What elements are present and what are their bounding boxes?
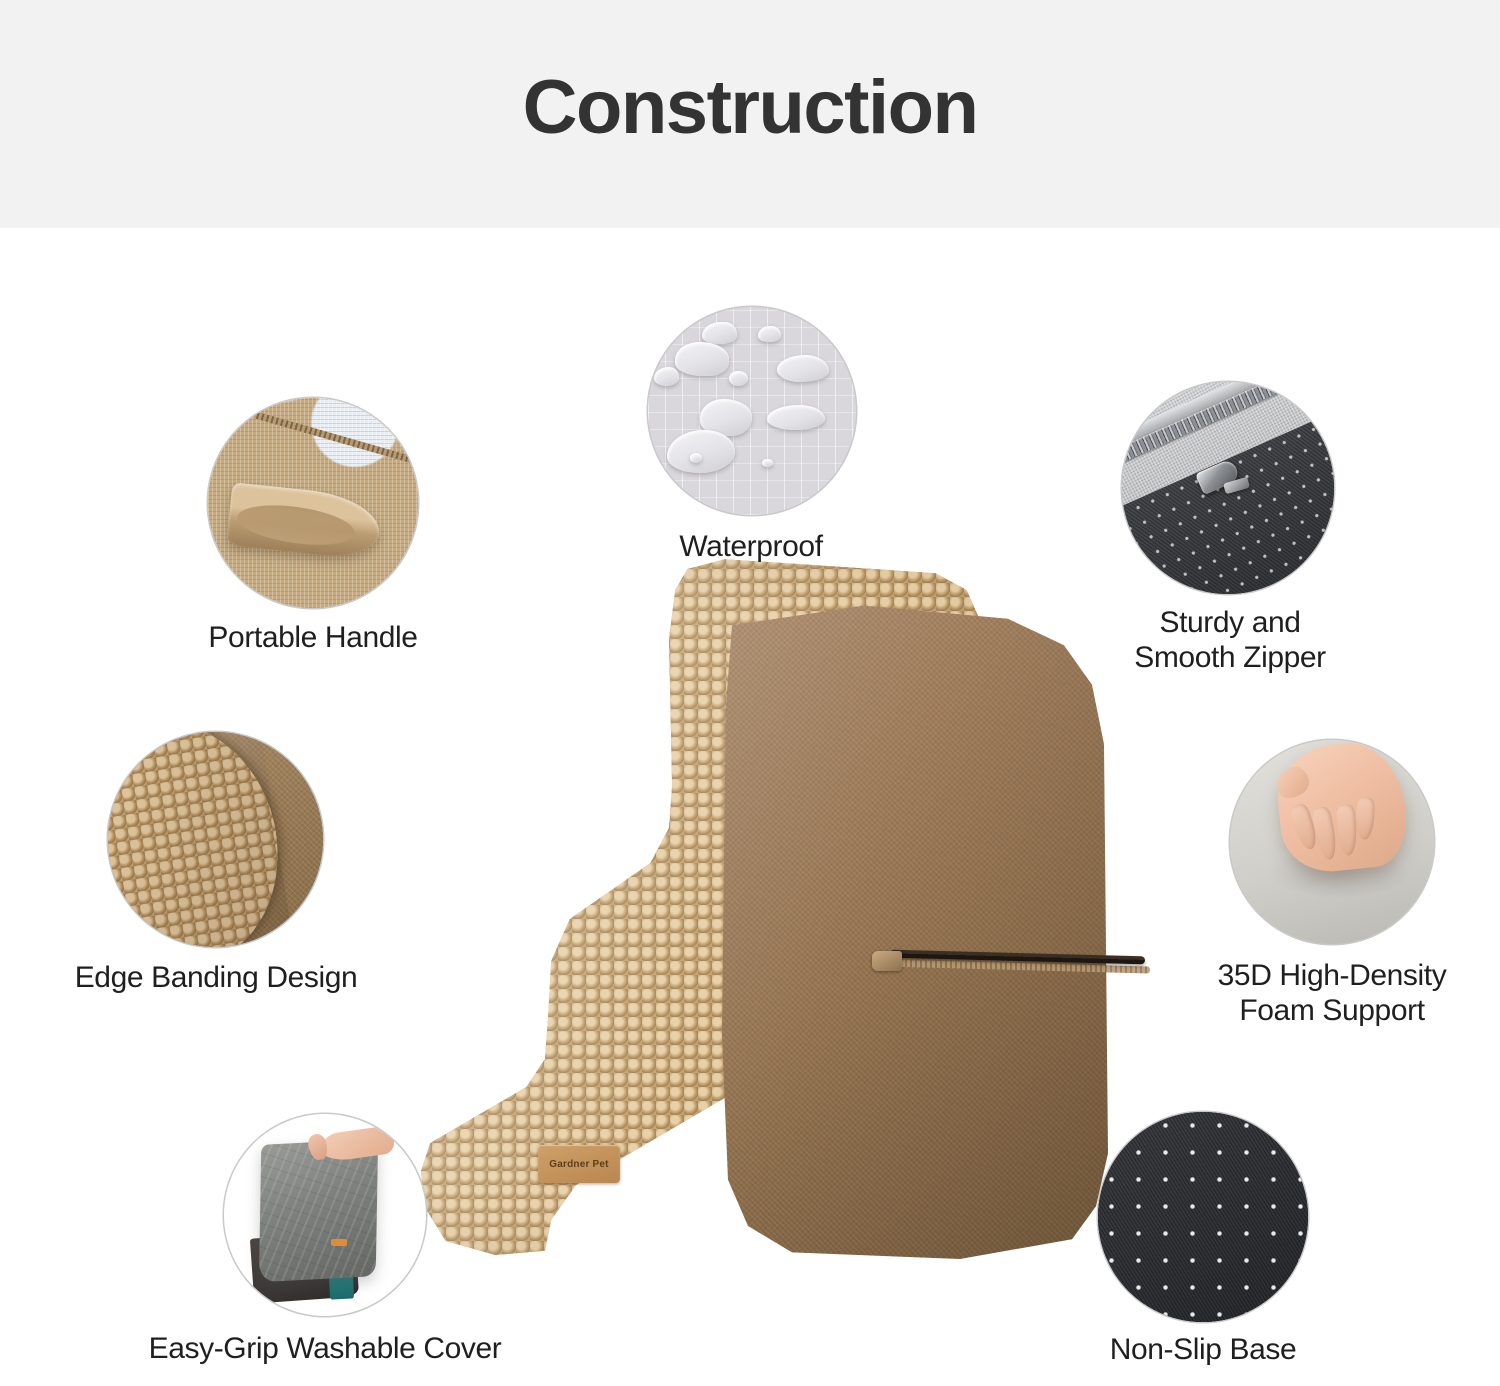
brand-label: Gardner Pet: [538, 1145, 620, 1183]
fabric-seam-icon: [108, 732, 323, 947]
anti-slip-dot-pattern: [1098, 1112, 1308, 1322]
hand-pressing-foam-icon: [1230, 740, 1434, 944]
removable-cover-icon: [224, 1114, 426, 1316]
finger-shape: [1355, 797, 1374, 839]
feature-label-edge-banding-design: Edge Banding Design: [60, 960, 372, 995]
water-droplet: [690, 453, 702, 463]
feature-foam-support: 35D High-Density Foam Support: [1230, 740, 1434, 944]
feature-label-non-slip-base: Non-Slip Base: [1069, 1332, 1337, 1367]
side-zipper-slider-icon: [872, 951, 902, 971]
feature-sturdy-smooth-zipper: Sturdy and Smooth Zipper: [1122, 382, 1334, 594]
zipper-icon: [1122, 382, 1334, 594]
water-droplet: [777, 355, 829, 382]
dotted-grip-base-icon: [1098, 1112, 1308, 1322]
water-droplets-icon: [648, 307, 856, 515]
washable-cover-cloth: [259, 1139, 378, 1283]
feature-label-portable-handle: Portable Handle: [148, 620, 478, 655]
feature-portable-handle: Portable Handle: [208, 398, 418, 608]
finger-shape: [1335, 804, 1357, 856]
stairs-side-panel: [720, 599, 1120, 1259]
product-infographic: Construction Gardner Pet Portable Handle: [0, 0, 1500, 1386]
water-droplet: [729, 371, 748, 386]
water-droplet: [654, 367, 679, 386]
brand-tag-icon: [331, 1239, 347, 1245]
feature-label-foam-support: 35D High-Density Foam Support: [1200, 958, 1464, 1029]
hand-shape: [319, 1125, 395, 1163]
water-droplet: [762, 459, 772, 467]
water-droplet: [702, 322, 737, 345]
water-droplet: [758, 326, 781, 343]
brand-label-text: Gardner Pet: [549, 1159, 608, 1170]
feature-label-easy-grip-washable-cover: Easy-Grip Washable Cover: [121, 1331, 529, 1366]
water-droplet: [767, 405, 825, 430]
quilted-fabric-texture: [648, 307, 856, 515]
page-title: Construction: [0, 64, 1500, 151]
finger-shape: [1311, 805, 1340, 861]
water-droplet: [675, 342, 729, 375]
feature-label-waterproof: Waterproof: [591, 529, 911, 564]
feature-waterproof: Waterproof: [648, 307, 856, 515]
feature-label-sturdy-smooth-zipper: Sturdy and Smooth Zipper: [1085, 605, 1375, 676]
feature-edge-banding-design: Edge Banding Design: [108, 732, 323, 947]
handle-strap-icon: [208, 398, 418, 608]
feature-easy-grip-washable-cover: Easy-Grip Washable Cover: [224, 1114, 426, 1316]
feature-non-slip-base: Non-Slip Base: [1098, 1112, 1308, 1322]
product-image-pet-stairs: Gardner Pet: [390, 555, 1130, 1285]
